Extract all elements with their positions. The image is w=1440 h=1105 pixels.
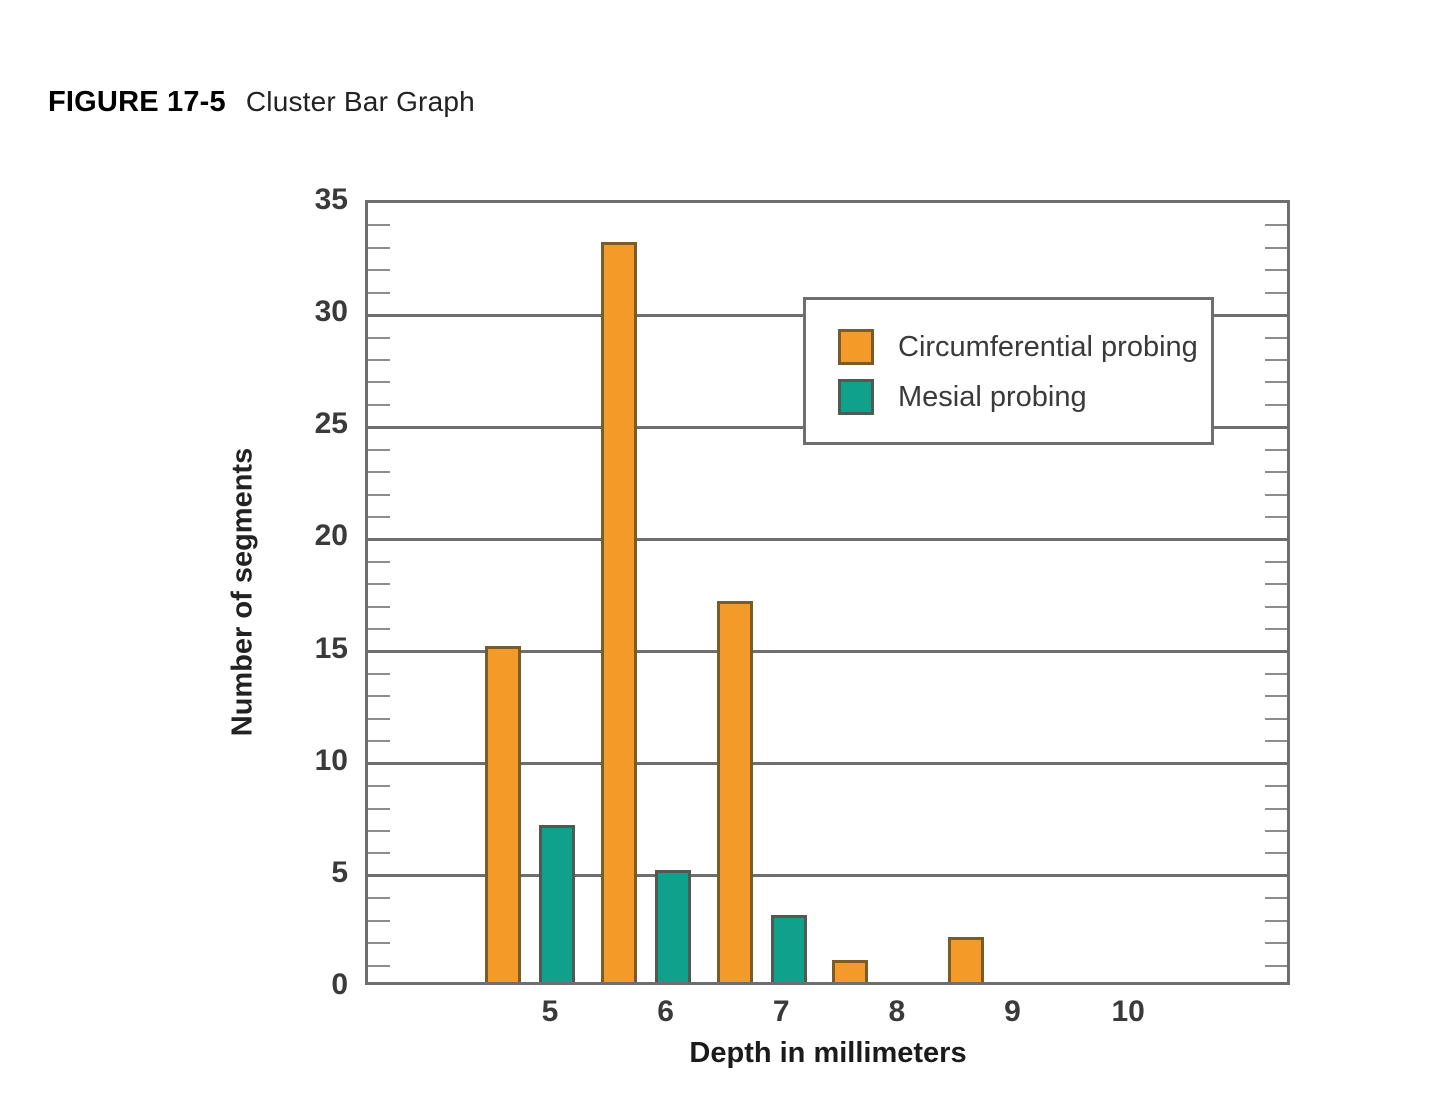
orange-swatch-icon bbox=[838, 329, 874, 365]
axis-minor-tick bbox=[1265, 628, 1287, 630]
legend-item: Circumferential probing bbox=[838, 322, 1211, 372]
axis-minor-tick bbox=[368, 359, 390, 361]
axis-minor-tick bbox=[368, 628, 390, 630]
cluster-bar-chart: Number of segments Depth in millimeters … bbox=[0, 0, 1440, 1105]
axis-minor-tick bbox=[1265, 808, 1287, 810]
axis-minor-tick bbox=[368, 494, 390, 496]
gridline bbox=[368, 538, 1287, 541]
bar bbox=[717, 601, 753, 982]
x-axis-title: Depth in millimeters bbox=[689, 1037, 966, 1070]
axis-minor-tick bbox=[1265, 269, 1287, 271]
legend-item: Mesial probing bbox=[838, 372, 1211, 422]
axis-minor-tick bbox=[1265, 224, 1287, 226]
axis-minor-tick bbox=[1265, 449, 1287, 451]
bar bbox=[539, 825, 575, 982]
axis-minor-tick bbox=[368, 471, 390, 473]
x-tick-label: 5 bbox=[542, 995, 559, 1029]
axis-minor-tick bbox=[368, 247, 390, 249]
axis-minor-tick bbox=[368, 897, 390, 899]
axis-minor-tick bbox=[368, 381, 390, 383]
axis-minor-tick bbox=[1265, 852, 1287, 854]
teal-swatch-icon bbox=[838, 379, 874, 415]
axis-minor-tick bbox=[368, 942, 390, 944]
axis-minor-tick bbox=[1265, 942, 1287, 944]
y-tick-label: 25 bbox=[315, 407, 348, 441]
axis-minor-tick bbox=[1265, 337, 1287, 339]
axis-minor-tick bbox=[368, 292, 390, 294]
axis-minor-tick bbox=[1265, 561, 1287, 563]
bar bbox=[948, 937, 984, 982]
legend-item-label: Circumferential probing bbox=[898, 331, 1198, 364]
axis-minor-tick bbox=[1265, 494, 1287, 496]
axis-minor-tick bbox=[368, 695, 390, 697]
axis-minor-tick bbox=[368, 269, 390, 271]
bar bbox=[832, 960, 868, 982]
y-tick-label: 5 bbox=[331, 856, 348, 890]
axis-minor-tick bbox=[1265, 606, 1287, 608]
axis-minor-tick bbox=[1265, 359, 1287, 361]
axis-minor-tick bbox=[1265, 583, 1287, 585]
axis-minor-tick bbox=[368, 606, 390, 608]
axis-minor-tick bbox=[1265, 965, 1287, 967]
x-tick-label: 9 bbox=[1004, 995, 1021, 1029]
axis-minor-tick bbox=[1265, 292, 1287, 294]
axis-minor-tick bbox=[368, 224, 390, 226]
axis-minor-tick bbox=[368, 583, 390, 585]
axis-minor-tick bbox=[1265, 830, 1287, 832]
figure-page: FIGURE 17-5Cluster Bar Graph Number of s… bbox=[0, 0, 1440, 1105]
legend-item-label: Mesial probing bbox=[898, 381, 1087, 414]
axis-minor-tick bbox=[1265, 718, 1287, 720]
axis-minor-tick bbox=[368, 785, 390, 787]
axis-minor-tick bbox=[1265, 404, 1287, 406]
axis-minor-tick bbox=[368, 673, 390, 675]
y-tick-label: 20 bbox=[315, 519, 348, 553]
bar bbox=[655, 870, 691, 982]
bar bbox=[485, 646, 521, 982]
bar bbox=[601, 242, 637, 982]
axis-minor-tick bbox=[1265, 897, 1287, 899]
y-tick-label: 15 bbox=[315, 632, 348, 666]
axis-minor-tick bbox=[1265, 785, 1287, 787]
axis-minor-tick bbox=[1265, 920, 1287, 922]
axis-minor-tick bbox=[368, 404, 390, 406]
axis-minor-tick bbox=[368, 830, 390, 832]
axis-minor-tick bbox=[368, 516, 390, 518]
axis-minor-tick bbox=[368, 449, 390, 451]
axis-minor-tick bbox=[368, 965, 390, 967]
axis-minor-tick bbox=[368, 852, 390, 854]
axis-minor-tick bbox=[368, 718, 390, 720]
x-tick-label: 10 bbox=[1111, 995, 1144, 1029]
axis-minor-tick bbox=[1265, 247, 1287, 249]
axis-minor-tick bbox=[368, 920, 390, 922]
bar bbox=[771, 915, 807, 982]
chart-legend: Circumferential probing Mesial probing bbox=[803, 297, 1214, 445]
axis-minor-tick bbox=[1265, 381, 1287, 383]
axis-minor-tick bbox=[368, 337, 390, 339]
axis-minor-tick bbox=[1265, 471, 1287, 473]
axis-minor-tick bbox=[368, 808, 390, 810]
y-tick-label: 30 bbox=[315, 295, 348, 329]
y-axis-title: Number of segments bbox=[227, 448, 260, 736]
x-tick-label: 8 bbox=[889, 995, 906, 1029]
axis-minor-tick bbox=[1265, 695, 1287, 697]
axis-minor-tick bbox=[368, 561, 390, 563]
axis-minor-tick bbox=[1265, 516, 1287, 518]
axis-minor-tick bbox=[1265, 740, 1287, 742]
y-tick-label: 10 bbox=[315, 744, 348, 778]
x-tick-label: 7 bbox=[773, 995, 790, 1029]
y-tick-label: 35 bbox=[315, 183, 348, 217]
y-tick-label: 0 bbox=[331, 968, 348, 1002]
axis-minor-tick bbox=[368, 740, 390, 742]
x-tick-label: 6 bbox=[657, 995, 674, 1029]
axis-minor-tick bbox=[1265, 673, 1287, 675]
